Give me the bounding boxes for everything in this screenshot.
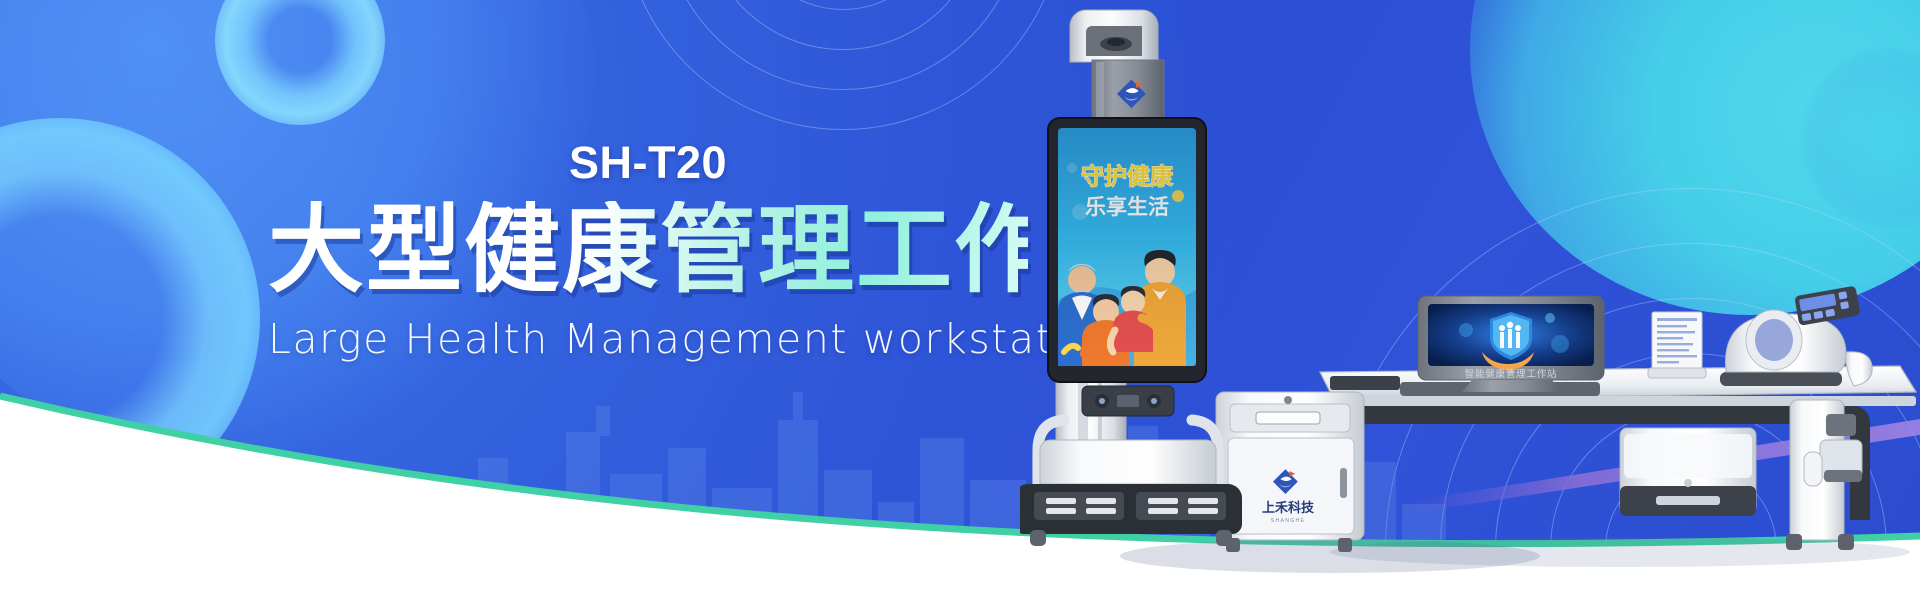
page-title: 大型健康管理工作站 xyxy=(268,201,1028,301)
desk-monitor: 智能健康管理工作站 xyxy=(1418,296,1604,392)
model-code: SH-T20 xyxy=(268,140,1028,185)
cabinet-logo-subtext: SHANGHE xyxy=(1271,518,1306,524)
monitor-caption: 智能健康管理工作站 xyxy=(1465,368,1558,380)
bp-control-panel xyxy=(1794,286,1860,326)
cabinet-logo-text: 上禾科技 xyxy=(1262,500,1315,516)
health-kiosk: 上禾科技 SHANGHE 守护健康 乐享生活 xyxy=(1020,10,1242,546)
desk-right-column xyxy=(1786,400,1862,550)
headline-block: SH-T20 大型健康管理工作站 Large Health Management… xyxy=(268,140,1028,363)
desk-unit: 上禾科技 SHANGHE xyxy=(1216,286,1916,552)
product-photo-health-workstation: 上禾科技 SHANGHE xyxy=(1020,0,1920,600)
kiosk-display: 守护健康 乐享生活 xyxy=(1048,118,1206,382)
brochure-holder xyxy=(1648,312,1706,378)
kiosk-sensor-bar xyxy=(1082,386,1174,416)
desk-printer-unit xyxy=(1620,428,1756,516)
floor-shadow-desk xyxy=(1330,537,1910,567)
product-hero-banner: SH-T20 大型健康管理工作站 Large Health Management… xyxy=(0,0,1920,600)
background-ring-small-top xyxy=(215,0,385,125)
kiosk-height-sensor xyxy=(1070,10,1158,62)
blood-pressure-monitor xyxy=(1720,286,1872,386)
desk-slot xyxy=(1330,376,1400,390)
kiosk-weighing-base xyxy=(1020,440,1242,546)
page-subtitle: Large Health Management workstation xyxy=(268,315,1028,363)
